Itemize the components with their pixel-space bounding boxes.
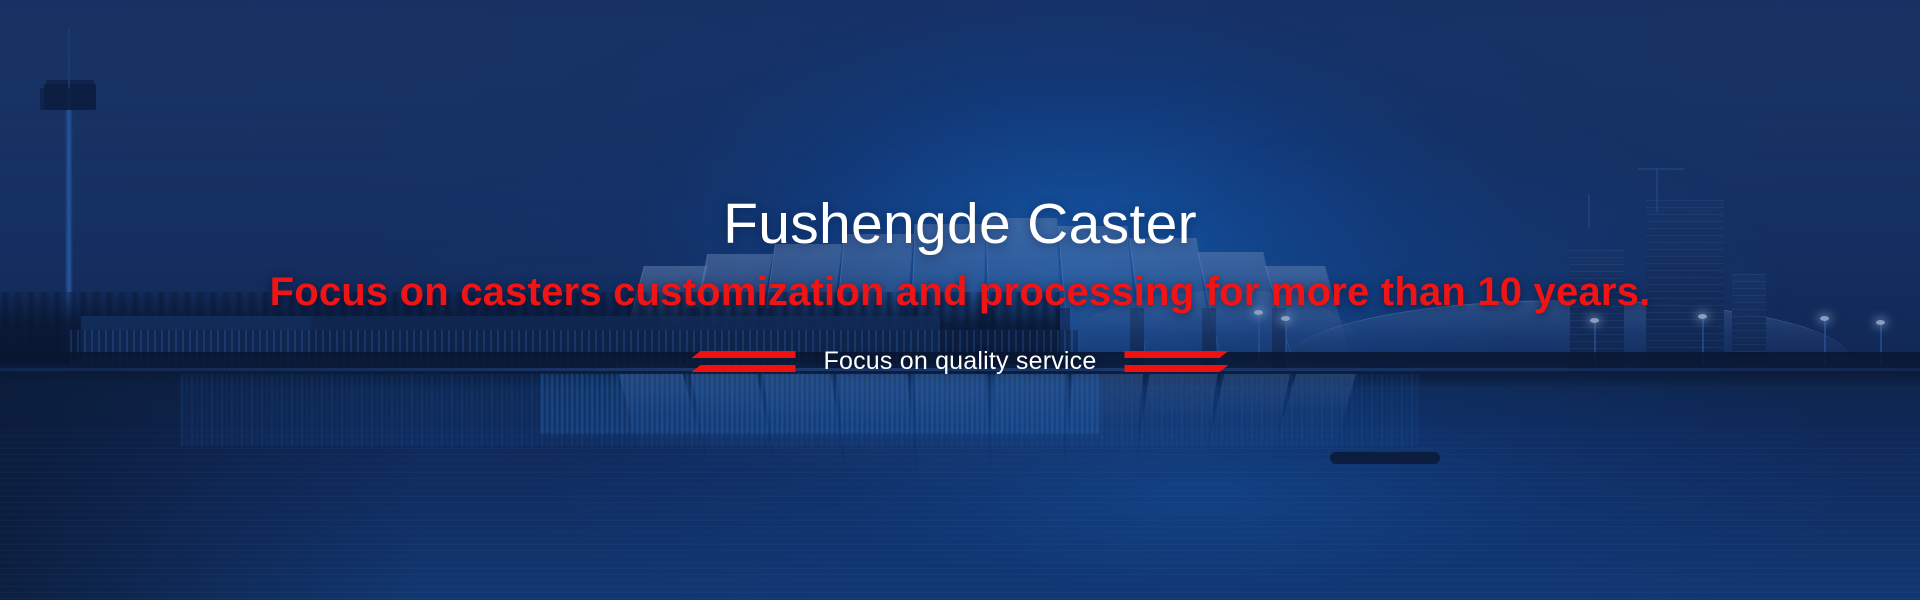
accent-bars-left — [692, 351, 796, 372]
page-title: Fushengde Caster — [723, 196, 1197, 253]
banner-content: Fushengde Caster Focus on casters custom… — [0, 0, 1920, 600]
accent-bar — [1124, 351, 1228, 358]
accent-bar — [692, 351, 796, 358]
accent-bar — [1124, 365, 1228, 372]
accent-bar — [692, 365, 796, 372]
tagline-row: Focus on quality service — [692, 347, 1229, 376]
accent-bars-right — [1124, 351, 1228, 372]
hero-banner: Fushengde Caster Focus on casters custom… — [0, 0, 1920, 600]
banner-tagline: Focus on quality service — [818, 347, 1103, 376]
banner-subheadline: Focus on casters customization and proce… — [270, 271, 1651, 313]
